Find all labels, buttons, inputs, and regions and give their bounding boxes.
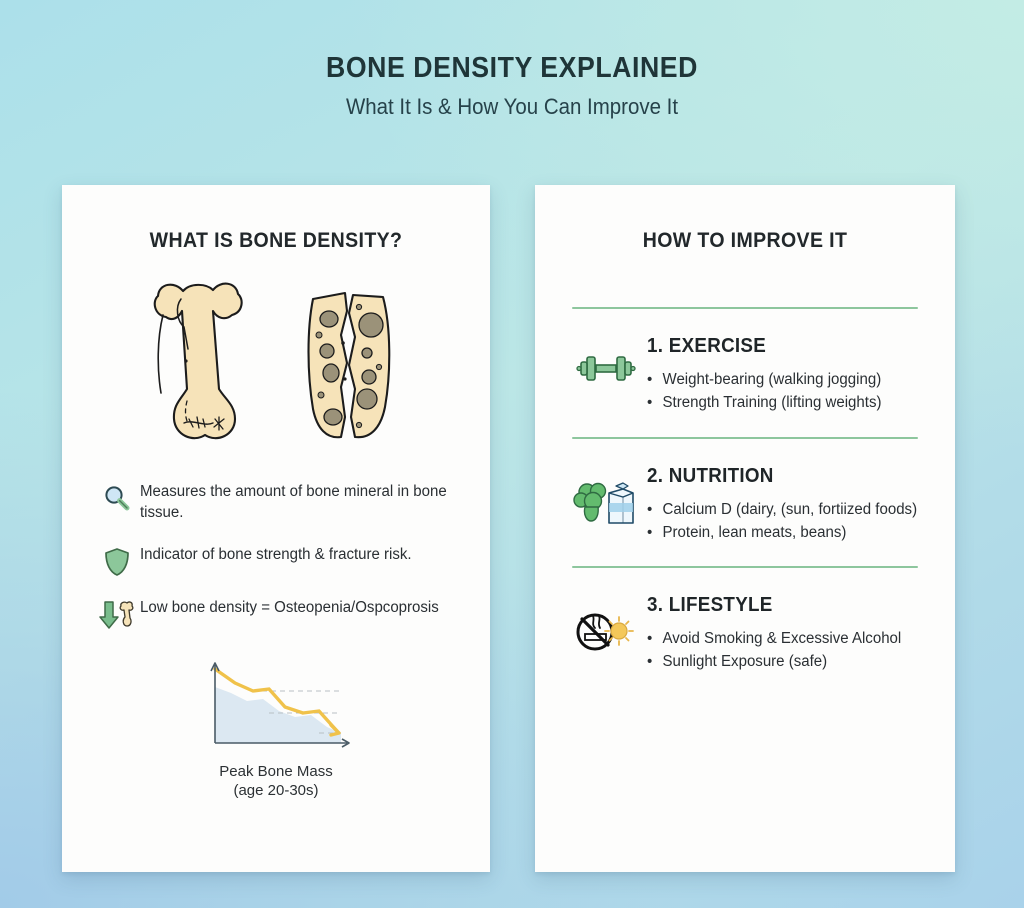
- fact-text: Measures the amount of bone mineral in b…: [140, 482, 480, 524]
- fact-text: Indicator of bone strength & fracture ri…: [140, 545, 412, 566]
- page-title: BONE DENSITY EXPLAINED: [41, 52, 983, 85]
- healthy-bone-icon: [151, 277, 247, 452]
- page-subtitle: What It Is & How You Can Improve It: [36, 94, 988, 120]
- list-item: Sunlight Exposure (safe): [647, 650, 922, 673]
- list-item: Calcium D (dairy, (sun, fortiized foods): [647, 498, 922, 521]
- left-card-title: WHAT IS BONE DENSITY?: [77, 185, 475, 253]
- right-card-title: HOW TO IMPROVE IT: [550, 185, 941, 253]
- down-arrow-bone-icon: [94, 598, 140, 630]
- fact-item: Indicator of bone strength & fracture ri…: [94, 545, 490, 577]
- no-smoking-icon: [578, 615, 612, 649]
- card-what-is-bone-density: WHAT IS BONE DENSITY?: [62, 185, 490, 872]
- section-heading: 1. EXERCISE: [647, 335, 914, 358]
- milk-carton-icon: [609, 483, 633, 523]
- section-body: 3. LIFESTYLE Avoid Smoking & Excessive A…: [643, 594, 931, 674]
- broccoli-milk-icon: [569, 465, 643, 545]
- section-heading: 2. NUTRITION: [647, 465, 914, 488]
- chart-caption: Peak Bone Mass (age 20-30s): [219, 762, 332, 800]
- magnifier-icon: [94, 482, 140, 514]
- section-heading: 3. LIFESTYLE: [647, 594, 914, 617]
- fact-item: Measures the amount of bone mineral in b…: [94, 482, 490, 524]
- sun-icon: [605, 617, 633, 645]
- porous-bone-icon: [297, 277, 401, 447]
- dumbbell-icon: [569, 335, 643, 415]
- section-body: 2. NUTRITION Calcium D (dairy, (sun, for…: [643, 465, 931, 545]
- section-exercise: 1. EXERCISE Weight-bearing (walking jogg…: [535, 309, 955, 437]
- list-item: Avoid Smoking & Excessive Alcohol: [647, 627, 922, 650]
- chart-caption-line1: Peak Bone Mass: [219, 762, 332, 781]
- section-body: 1. EXERCISE Weight-bearing (walking jogg…: [643, 335, 931, 415]
- list-item: Protein, lean meats, beans): [647, 521, 922, 544]
- fact-item: Low bone density = Osteopenia/Ospcoprosi…: [94, 598, 490, 630]
- no-smoking-sun-icon: [569, 594, 643, 674]
- list-item: Strength Training (lifting weights): [647, 391, 922, 414]
- chart-svg: [191, 651, 361, 756]
- infographic-header: BONE DENSITY EXPLAINED What It Is & How …: [0, 0, 1024, 120]
- section-list: Avoid Smoking & Excessive Alcohol Sunlig…: [647, 627, 931, 674]
- chart-caption-line2: (age 20-30s): [219, 781, 332, 800]
- section-nutrition: 2. NUTRITION Calcium D (dairy, (sun, for…: [535, 439, 955, 567]
- list-item: Weight-bearing (walking jogging): [647, 368, 922, 391]
- section-lifestyle: 3. LIFESTYLE Avoid Smoking & Excessive A…: [535, 568, 955, 696]
- bone-mass-decline-chart: Peak Bone Mass (age 20-30s): [62, 651, 490, 800]
- shield-icon: [94, 545, 140, 577]
- bone-comparison-illustration: [62, 277, 490, 452]
- broccoli-icon: [574, 483, 606, 521]
- fact-text: Low bone density = Osteopenia/Ospcoprosi…: [140, 598, 439, 619]
- section-list: Weight-bearing (walking jogging) Strengt…: [647, 368, 931, 415]
- section-list: Calcium D (dairy, (sun, fortiized foods)…: [647, 498, 931, 545]
- bone-density-facts-list: Measures the amount of bone mineral in b…: [94, 482, 490, 630]
- card-how-to-improve-it: HOW TO IMPROVE IT 1. EXERCISE Weight-bea…: [535, 185, 955, 872]
